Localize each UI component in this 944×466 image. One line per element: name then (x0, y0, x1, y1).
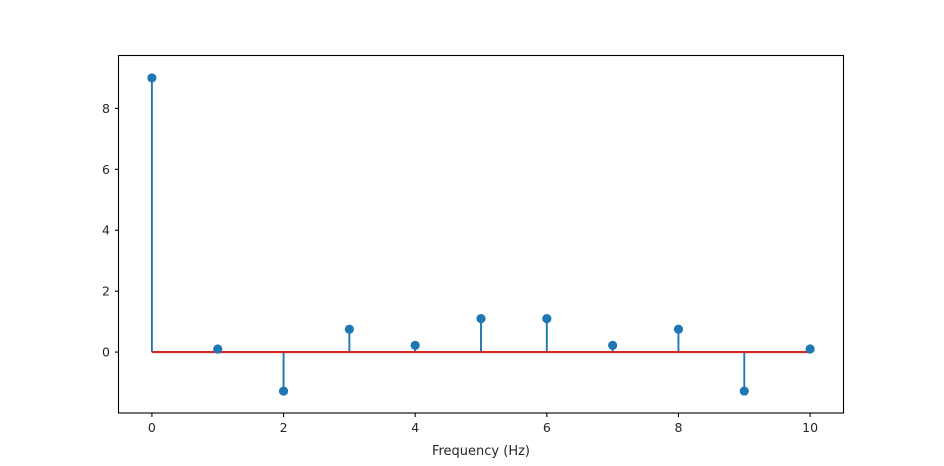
x-tick-label: 2 (280, 420, 288, 435)
figure-canvas: 0246810 02468 Frequency (Hz) (0, 0, 944, 466)
x-tick-label: 0 (148, 420, 156, 435)
stem-marker (213, 344, 222, 353)
stem-marker (147, 73, 156, 82)
y-tick-label: 0 (102, 345, 110, 360)
x-tick-label: 10 (802, 420, 818, 435)
stem-marker (345, 325, 354, 334)
stem-marker (674, 325, 683, 334)
x-tick-label: 6 (543, 420, 551, 435)
x-tick-label: 4 (411, 420, 419, 435)
y-tick-label: 4 (102, 223, 110, 238)
stem-marker (279, 386, 288, 395)
stem-marker (542, 314, 551, 323)
stem-marker (476, 314, 485, 323)
y-tick-label: 8 (102, 101, 110, 116)
stem-plot: 0246810 02468 Frequency (Hz) (0, 0, 944, 466)
x-axis-label: Frequency (Hz) (432, 444, 530, 459)
figure-background (0, 0, 944, 466)
stem-marker (805, 344, 814, 353)
x-tick-label: 8 (674, 420, 682, 435)
stem-marker (411, 341, 420, 350)
stem-marker (740, 386, 749, 395)
stem-marker (608, 341, 617, 350)
y-tick-label: 2 (102, 284, 110, 299)
y-tick-label: 6 (102, 162, 110, 177)
